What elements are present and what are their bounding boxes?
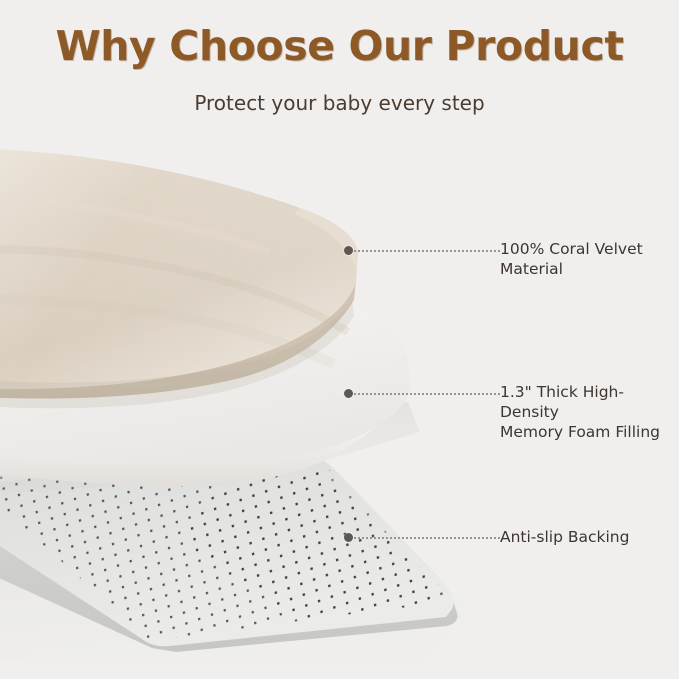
callout-marker-anti-slip: [344, 533, 353, 542]
callout-group: 100% Coral Velvet Material 1.3" Thick Hi…: [0, 0, 679, 679]
callout-leader-line-memory-foam: [354, 393, 500, 395]
callout-leader-line-coral-velvet: [354, 250, 500, 252]
product-infographic: Why Choose Our Product Protect your baby…: [0, 0, 679, 679]
callout-label-memory-foam: 1.3" Thick High-Density Memory Foam Fill…: [500, 382, 675, 442]
callout-label-coral-velvet: 100% Coral Velvet Material: [500, 239, 675, 279]
callout-leader-line-anti-slip: [354, 537, 500, 539]
callout-marker-memory-foam: [344, 389, 353, 398]
callout-label-anti-slip: Anti-slip Backing: [500, 527, 675, 547]
callout-marker-coral-velvet: [344, 246, 353, 255]
